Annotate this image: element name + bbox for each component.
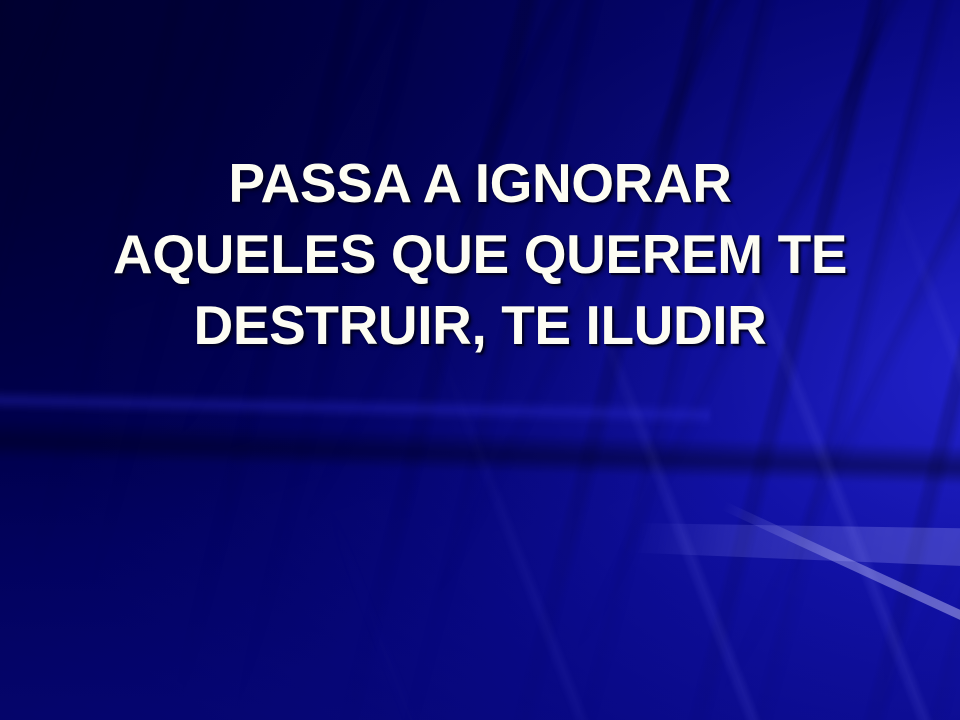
title-line-3: DESTRUIR, TE ILUDIR <box>18 290 942 361</box>
title-line-2: AQUELES QUE QUEREM TE <box>18 219 942 290</box>
slide-title: PASSA A IGNORAR AQUELES QUE QUEREM TE DE… <box>0 148 960 361</box>
presentation-slide: PASSA A IGNORAR AQUELES QUE QUEREM TE DE… <box>0 0 960 720</box>
title-line-1: PASSA A IGNORAR <box>18 148 942 219</box>
